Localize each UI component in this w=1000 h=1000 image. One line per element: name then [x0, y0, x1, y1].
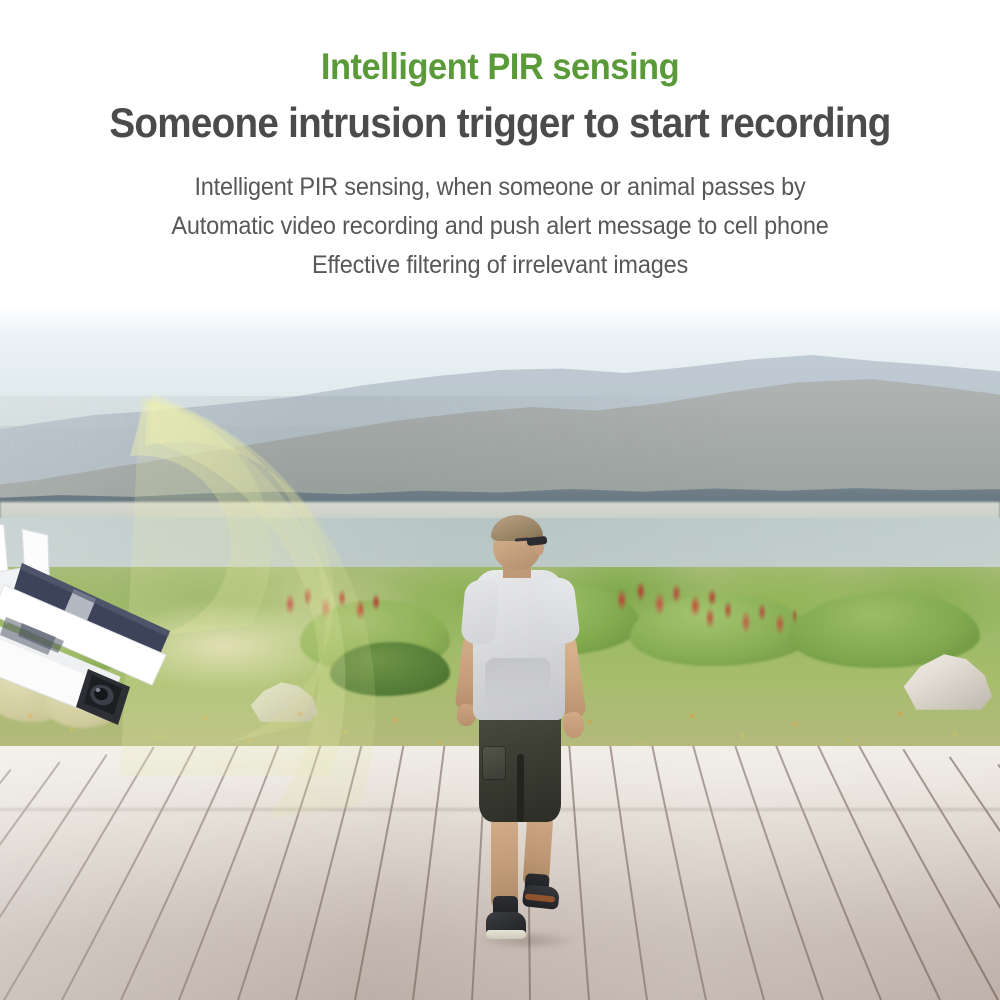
pir-promo-banner: Intelligent PIR sensing Someone intrusio… [0, 0, 1000, 1000]
right-sleeve [537, 576, 581, 646]
scene-photo [0, 306, 1000, 1000]
left-sleeve [460, 579, 499, 646]
shorts-center-seam [517, 754, 524, 822]
headline-dark: Someone intrusion trigger to start recor… [40, 99, 960, 147]
body-line-3: Effective filtering of irrelevant images [30, 246, 970, 285]
sunglasses-icon [527, 536, 548, 546]
left-leg [491, 816, 518, 908]
red-flower-cluster [280, 588, 390, 632]
security-camera [0, 519, 210, 734]
header-text-block: Intelligent PIR sensing Someone intrusio… [0, 0, 1000, 308]
body-copy: Intelligent PIR sensing, when someone or… [0, 168, 1000, 285]
body-line-1: Intelligent PIR sensing, when someone or… [30, 168, 970, 207]
cargo-pocket [482, 746, 506, 780]
shirt-fold [485, 658, 551, 716]
body-line-2: Automatic video recording and push alert… [30, 207, 970, 246]
headline-green: Intelligent PIR sensing [35, 46, 965, 88]
red-flower-cluster [700, 602, 796, 642]
walking-person [455, 518, 625, 948]
left-shoe-sole [486, 930, 526, 939]
